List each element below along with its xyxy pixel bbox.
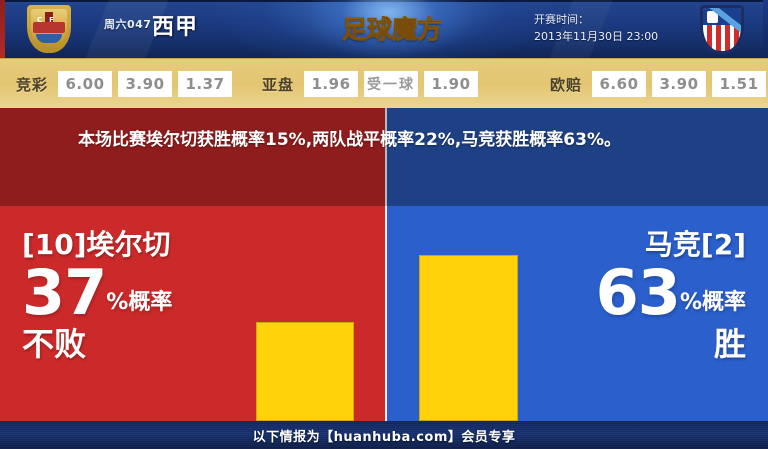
league-name: 西甲 bbox=[152, 9, 198, 41]
home-probability-row: 37 %概率 bbox=[22, 262, 172, 324]
home-team-stats: [10]埃尔切 37 %概率 不败 bbox=[22, 228, 172, 364]
odds-cell-handicap[interactable]: 受一球 bbox=[364, 71, 418, 97]
odds-cell-home[interactable]: 6.00 bbox=[58, 71, 112, 97]
summary-banner: 本场比赛埃尔切获胜概率15%,两队战平概率22%,马竞获胜概率63%。 bbox=[0, 108, 768, 206]
odds-group-european: 欧赔 6.60 3.90 1.51 bbox=[550, 71, 766, 97]
brand-logo[interactable]: 足球魔方 bbox=[330, 10, 454, 46]
footer-text: 以下情报为【huanhuba.com】会员专享 bbox=[253, 426, 516, 445]
elche-cf-crest-icon: CF bbox=[27, 5, 71, 53]
away-team-stats: 马竞[2] 63 %概率 胜 bbox=[596, 228, 746, 364]
summary-banner-text: 本场比赛埃尔切获胜概率15%,两队战平概率22%,马竞获胜概率63%。 bbox=[78, 126, 700, 155]
odds-bar: 竞彩 6.00 3.90 1.37 亚盘 1.96 受一球 1.90 欧赔 6.… bbox=[0, 58, 768, 110]
kickoff-label: 开赛时间： bbox=[534, 11, 658, 28]
header-edge-blue bbox=[763, 0, 768, 58]
home-outcome-label: 不败 bbox=[22, 324, 172, 364]
match-header: CF 周六047 西甲 足球魔方 开赛时间： 2013年11月30日 23:00 bbox=[0, 0, 768, 58]
summary-banner-left-bg bbox=[0, 108, 385, 206]
crest-stripes bbox=[703, 8, 741, 51]
away-outcome-label: 胜 bbox=[596, 324, 746, 364]
brand-logo-text: 足球魔方 bbox=[342, 10, 442, 46]
odds-group-title: 亚盘 bbox=[262, 74, 294, 95]
odds-cell-away[interactable]: 1.51 bbox=[712, 71, 766, 97]
round-label: 周六047 bbox=[104, 16, 151, 32]
odds-group-title: 竞彩 bbox=[16, 74, 48, 95]
odds-group-title: 欧赔 bbox=[550, 74, 582, 95]
kickoff-info: 开赛时间： 2013年11月30日 23:00 bbox=[534, 11, 658, 45]
odds-cell-draw[interactable]: 3.90 bbox=[118, 71, 172, 97]
summary-banner-divider bbox=[385, 108, 387, 206]
summary-banner-right-bg bbox=[387, 108, 768, 206]
away-probability-row: 63 %概率 bbox=[596, 262, 746, 324]
away-probability-bar bbox=[419, 255, 518, 421]
match-probability-infographic: CF 周六047 西甲 足球魔方 开赛时间： 2013年11月30日 23:00… bbox=[0, 0, 768, 449]
odds-cell-home[interactable]: 1.96 bbox=[304, 71, 358, 97]
away-probability-value: 63 bbox=[596, 262, 680, 324]
header-edge-red bbox=[0, 0, 5, 58]
home-probability-bar bbox=[256, 322, 354, 421]
odds-cell-draw[interactable]: 3.90 bbox=[652, 71, 706, 97]
away-probability-unit: %概率 bbox=[680, 286, 746, 324]
atletico-madrid-crest-icon bbox=[700, 5, 744, 54]
home-probability-value: 37 bbox=[22, 262, 106, 324]
probability-panel: 本场比赛埃尔切获胜概率15%,两队战平概率22%,马竞获胜概率63%。 [10]… bbox=[0, 108, 768, 421]
odds-cell-home[interactable]: 6.60 bbox=[592, 71, 646, 97]
odds-group-jingcai: 竞彩 6.00 3.90 1.37 bbox=[16, 71, 232, 97]
odds-group-asian-handicap: 亚盘 1.96 受一球 1.90 bbox=[262, 71, 478, 97]
crest-band-red bbox=[33, 22, 65, 33]
odds-cell-away[interactable]: 1.90 bbox=[424, 71, 478, 97]
footer-bar: 以下情报为【huanhuba.com】会员专享 bbox=[0, 421, 768, 449]
kickoff-time: 2013年11月30日 23:00 bbox=[534, 28, 658, 45]
home-probability-unit: %概率 bbox=[106, 286, 172, 324]
odds-cell-away[interactable]: 1.37 bbox=[178, 71, 232, 97]
